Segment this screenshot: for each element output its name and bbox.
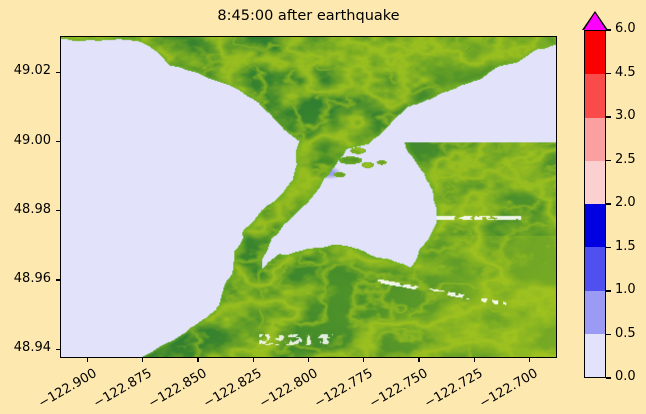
colorbar[interactable]: 0.00.51.01.52.02.53.04.56.0 xyxy=(584,30,606,378)
colorbar-tick-label: 2.0 xyxy=(615,195,636,210)
colorbar-tick-label: 1.5 xyxy=(615,239,636,254)
x-tick-mark xyxy=(474,358,475,362)
colorbar-band xyxy=(585,118,605,161)
colorbar-tick-mark xyxy=(606,377,611,378)
x-tick-mark xyxy=(418,358,419,362)
x-tick-mark xyxy=(363,358,364,362)
x-tick-label: −122.875 xyxy=(90,366,155,412)
y-tick-mark xyxy=(56,279,60,280)
colorbar-band xyxy=(585,291,605,334)
x-tick-label: −122.850 xyxy=(145,366,210,412)
colorbar-tick-mark xyxy=(606,203,611,204)
colorbar-tick-label: 2.5 xyxy=(615,152,636,167)
colorbar-tick-label: 0.5 xyxy=(615,326,636,341)
colorbar-band xyxy=(585,334,605,377)
colorbar-tick-label: 0.0 xyxy=(615,369,636,384)
y-tick-label: 48.98 xyxy=(0,202,51,217)
x-tick-label: −122.725 xyxy=(421,366,486,412)
y-tick-label: 48.94 xyxy=(0,340,51,355)
y-tick-mark xyxy=(56,141,60,142)
x-tick-label: −122.900 xyxy=(34,366,99,412)
y-tick-label: 48.96 xyxy=(0,271,51,286)
x-tick-label: −122.775 xyxy=(311,366,376,412)
x-tick-mark xyxy=(87,358,88,362)
figure-root: 8:45:00 after earthquake 48.9448.9648.98… xyxy=(0,0,646,414)
map-axes[interactable] xyxy=(60,36,557,358)
y-tick-label: 49.02 xyxy=(0,63,51,78)
colorbar-band xyxy=(585,31,605,74)
colorbar-tick-mark xyxy=(606,290,611,291)
x-tick-mark xyxy=(529,358,530,362)
colorbar-tick-label: 4.5 xyxy=(615,65,636,80)
chart-title: 8:45:00 after earthquake xyxy=(60,8,557,24)
y-tick-mark xyxy=(56,210,60,211)
colorbar-tick-mark xyxy=(606,29,611,30)
colorbar-band xyxy=(585,247,605,290)
colorbar-tick-mark xyxy=(606,160,611,161)
heatmap-canvas xyxy=(61,37,556,357)
y-tick-label: 49.00 xyxy=(0,133,51,148)
x-tick-mark xyxy=(142,358,143,362)
colorbar-bands xyxy=(584,30,606,378)
x-tick-mark xyxy=(253,358,254,362)
x-tick-mark xyxy=(308,358,309,362)
y-tick-mark xyxy=(56,349,60,350)
y-tick-mark xyxy=(56,72,60,73)
x-tick-label: −122.800 xyxy=(255,366,320,412)
colorbar-tick-label: 6.0 xyxy=(615,21,636,36)
colorbar-band xyxy=(585,74,605,117)
colorbar-tick-label: 1.0 xyxy=(615,282,636,297)
colorbar-tick-label: 3.0 xyxy=(615,108,636,123)
colorbar-tick-mark xyxy=(606,73,611,74)
colorbar-band xyxy=(585,204,605,247)
colorbar-extend-arrow-icon xyxy=(584,13,606,30)
colorbar-tick-mark xyxy=(606,247,611,248)
x-tick-mark xyxy=(197,358,198,362)
colorbar-tick-mark xyxy=(606,334,611,335)
colorbar-band xyxy=(585,161,605,204)
x-tick-label: −122.750 xyxy=(366,366,431,412)
colorbar-tick-mark xyxy=(606,116,611,117)
x-tick-label: −122.700 xyxy=(476,366,541,412)
x-tick-label: −122.825 xyxy=(200,366,265,412)
